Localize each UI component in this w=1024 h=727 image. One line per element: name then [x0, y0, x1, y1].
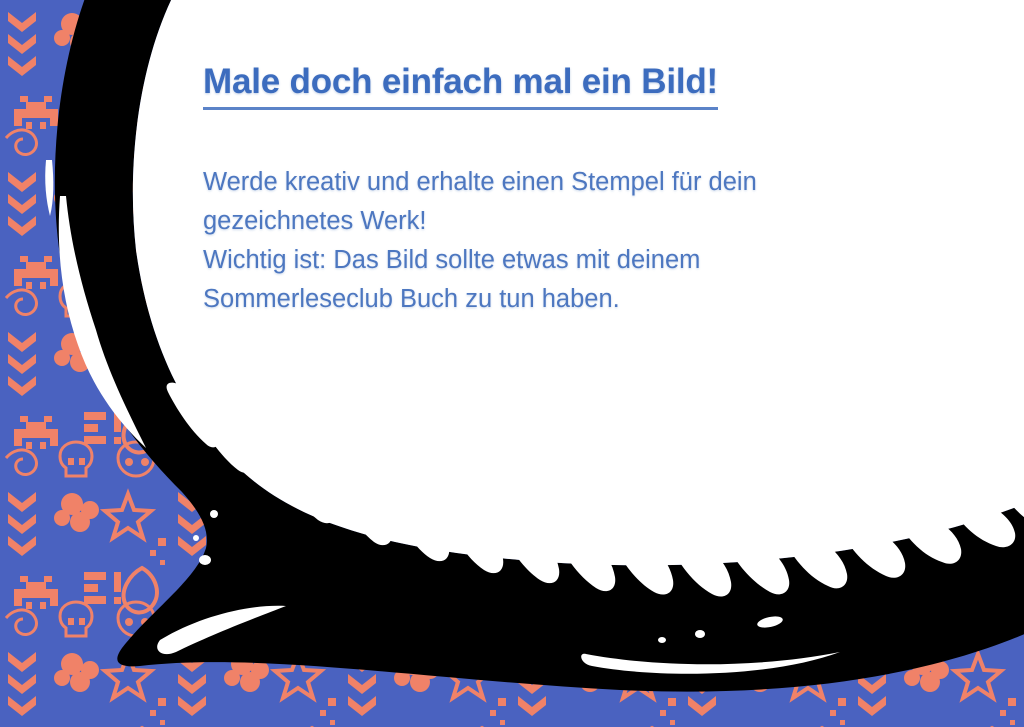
slide-text-block: Male doch einfach mal ein Bild! Werde kr… [203, 62, 903, 318]
lip-dot [695, 630, 705, 638]
page-title: Male doch einfach mal ein Bild! [203, 62, 718, 110]
body-line: Wichtig ist: Das Bild sollte etwas mit d… [203, 241, 903, 280]
body-line: gezeichnetes Werk! [203, 202, 903, 241]
lip-dot [199, 555, 211, 565]
lip-dot [193, 535, 199, 541]
slide-canvas: Male doch einfach mal ein Bild! Werde kr… [0, 0, 1024, 727]
body-line: Werde kreativ und erhalte einen Stempel … [203, 163, 903, 202]
lip-dot [210, 510, 218, 518]
body-paragraph-1: Werde kreativ und erhalte einen Stempel … [203, 163, 903, 241]
body-line: Sommerleseclub Buch zu tun haben. [203, 280, 903, 319]
body-paragraph-2: Wichtig ist: Das Bild sollte etwas mit d… [203, 241, 903, 319]
bubble-highlight-streak-2 [45, 160, 53, 216]
lip-dot [658, 637, 666, 643]
